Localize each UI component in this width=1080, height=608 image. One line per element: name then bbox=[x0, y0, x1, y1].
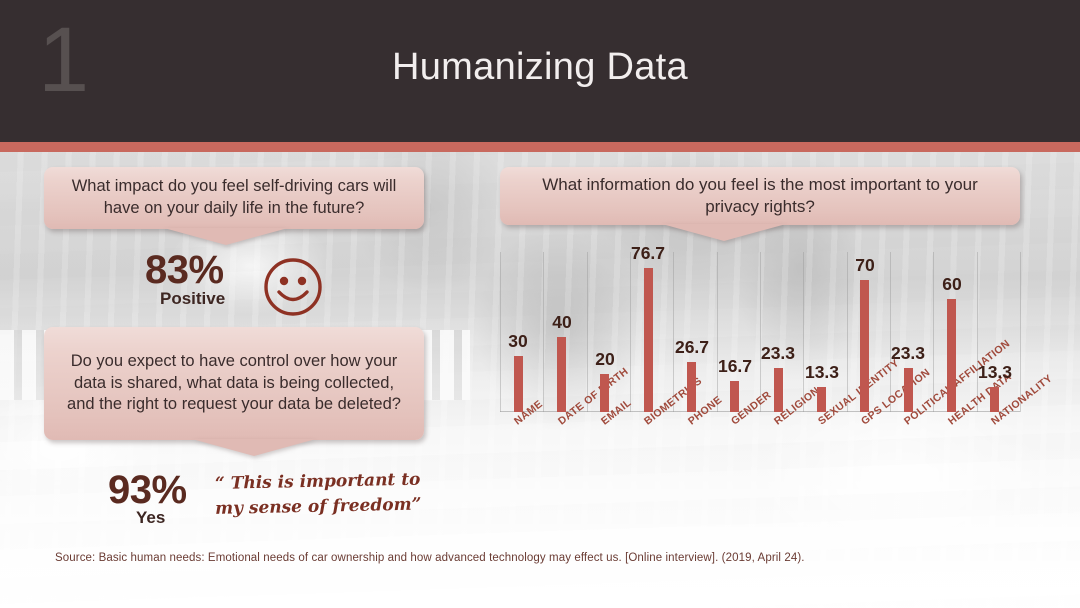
chart-bar bbox=[774, 368, 783, 412]
chart-gridline bbox=[630, 252, 631, 412]
respondent-quote: “ This is important to my sense of freed… bbox=[210, 467, 426, 521]
chart-gridline bbox=[890, 252, 891, 412]
chart-bar bbox=[687, 362, 696, 412]
chart-bar bbox=[860, 280, 869, 412]
chart-bar bbox=[817, 387, 826, 412]
callout-question-control-text: Do you expect to have control over how y… bbox=[44, 351, 424, 416]
callout-question-control: Do you expect to have control over how y… bbox=[44, 327, 424, 440]
callout-question-privacy-text: What information do you feel is the most… bbox=[500, 174, 1020, 219]
chart-bar-value-label: 70 bbox=[855, 255, 874, 276]
stat-impact-value: 83% bbox=[145, 248, 224, 293]
chart-bar bbox=[990, 387, 999, 412]
chart-bar-value-label: 60 bbox=[942, 274, 961, 295]
chart-bar-value-label: 20 bbox=[595, 349, 614, 370]
callout-question-privacy: What information do you feel is the most… bbox=[500, 167, 1020, 225]
chart-gridline bbox=[977, 252, 978, 412]
chart-gridline bbox=[587, 252, 588, 412]
chart-bar-value-label: 26.7 bbox=[675, 337, 709, 358]
chart-bar-value-label: 23.3 bbox=[761, 343, 795, 364]
chart-bar-value-label: 13.3 bbox=[978, 362, 1012, 383]
smiley-face-icon bbox=[262, 256, 324, 318]
chart-bar bbox=[514, 356, 523, 413]
chart-gridline bbox=[673, 252, 674, 412]
chart-bar-value-label: 23.3 bbox=[891, 343, 925, 364]
chart-bar bbox=[600, 374, 609, 412]
chart-bar bbox=[557, 337, 566, 412]
chart-gridline bbox=[803, 252, 804, 412]
chart-bar bbox=[730, 381, 739, 412]
chart-bar bbox=[644, 268, 653, 412]
privacy-priority-bar-chart: 30NAME40DATE OF BIRTH20EMAIL76.7BIOMETRI… bbox=[500, 252, 1020, 412]
chart-bar-value-label: 16.7 bbox=[718, 356, 752, 377]
chart-gridline bbox=[847, 252, 848, 412]
chart-bar-value-label: 40 bbox=[552, 312, 571, 333]
page-title: Humanizing Data bbox=[0, 46, 1080, 89]
chart-gridline bbox=[717, 252, 718, 412]
stat-control-value: 93% bbox=[108, 468, 187, 513]
header-accent-bar bbox=[0, 142, 1080, 152]
chart-gridline bbox=[500, 252, 501, 412]
chart-bar-value-label: 13.3 bbox=[805, 362, 839, 383]
stat-impact-label: Positive bbox=[160, 289, 225, 309]
slide-root: 1 Humanizing Data What impact do you fee… bbox=[0, 0, 1080, 608]
chart-gridline bbox=[1020, 252, 1021, 412]
chart-gridline bbox=[760, 252, 761, 412]
slide-header: 1 Humanizing Data bbox=[0, 0, 1080, 142]
chart-gridline bbox=[543, 252, 544, 412]
chart-bar-value-label: 30 bbox=[508, 331, 527, 352]
callout-question-impact: What impact do you feel self-driving car… bbox=[44, 167, 424, 229]
chart-bar bbox=[947, 299, 956, 412]
chart-bar-value-label: 76.7 bbox=[631, 243, 665, 264]
chart-bar bbox=[904, 368, 913, 412]
source-citation: Source: Basic human needs: Emotional nee… bbox=[55, 552, 1005, 564]
stat-control-label: Yes bbox=[136, 508, 165, 528]
callout-question-impact-text: What impact do you feel self-driving car… bbox=[44, 176, 424, 220]
chart-gridline bbox=[933, 252, 934, 412]
